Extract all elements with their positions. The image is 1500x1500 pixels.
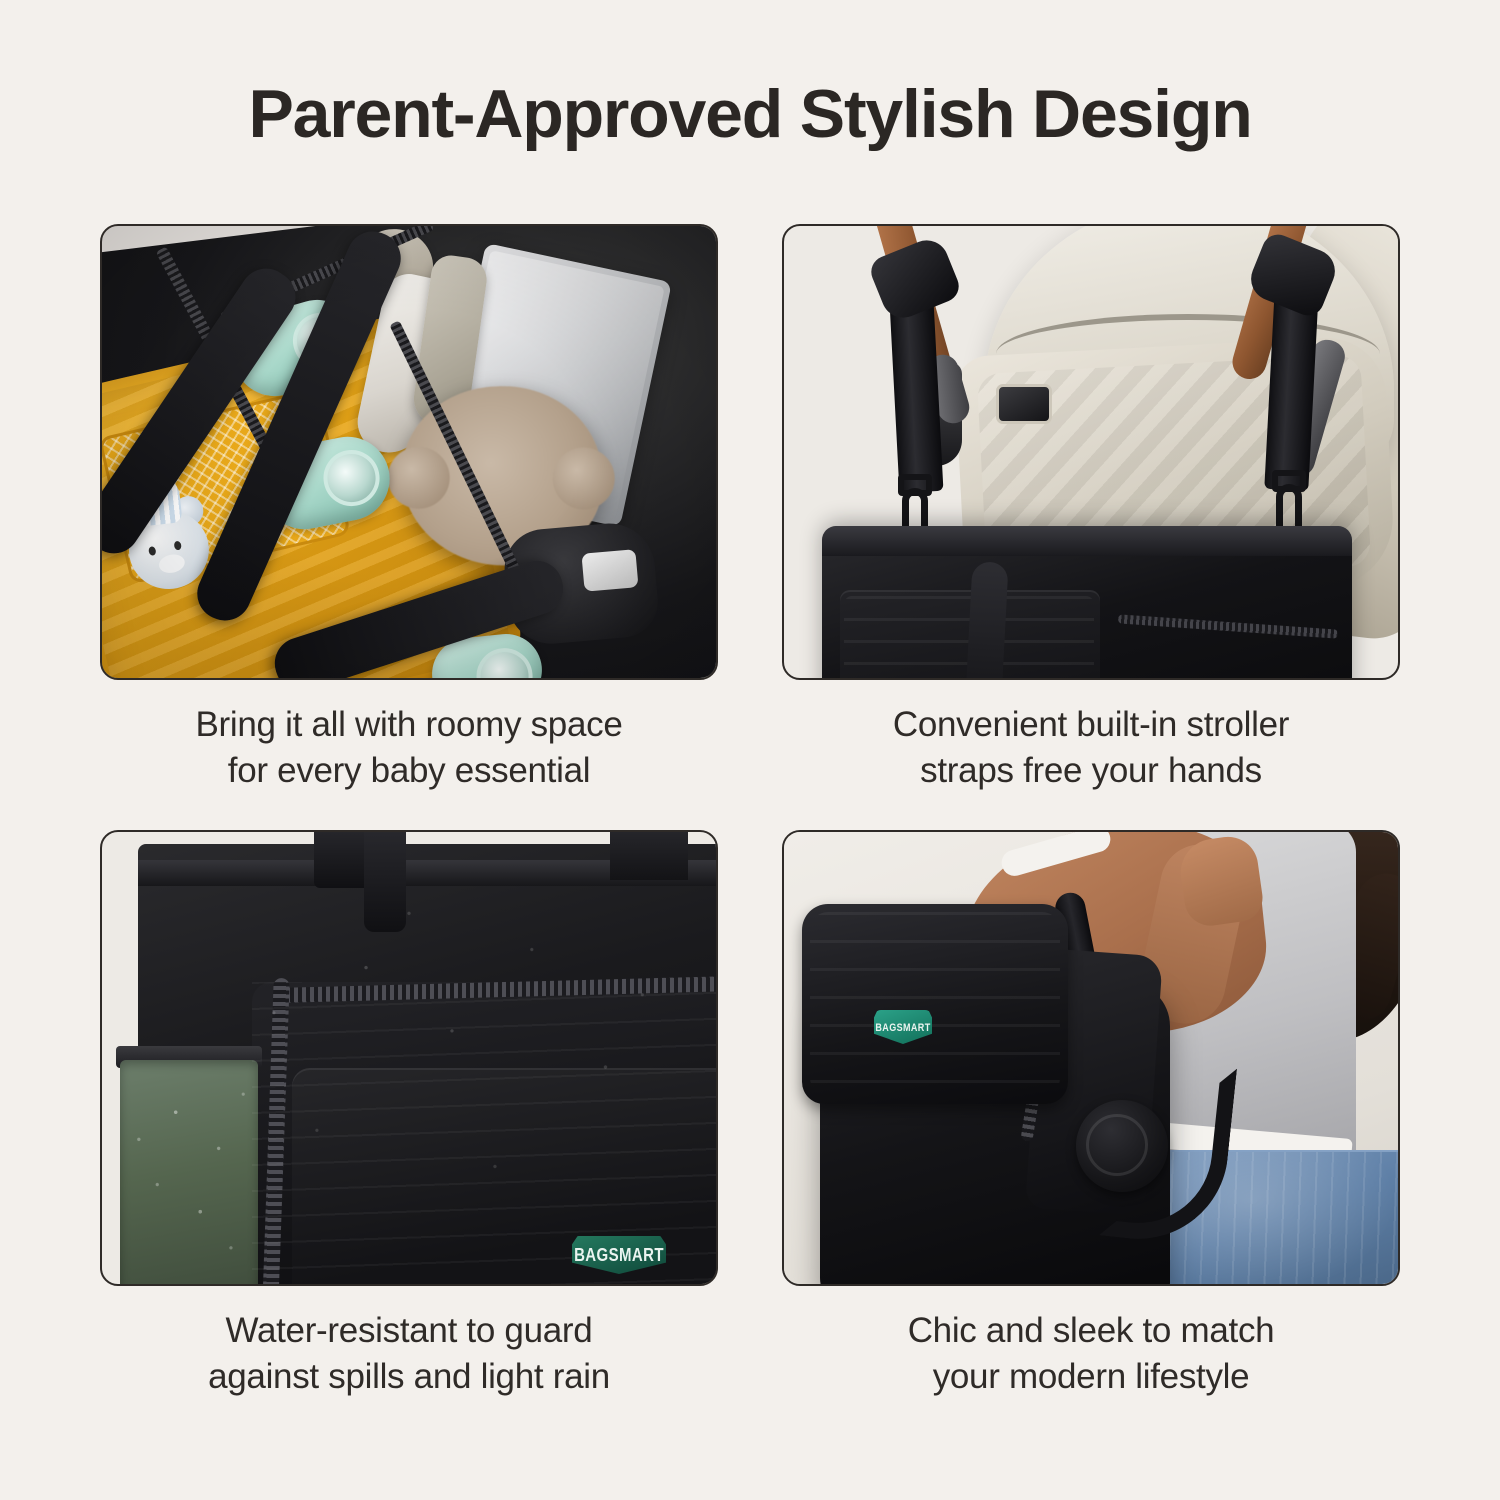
caption-line-1: Convenient built-in stroller: [893, 705, 1289, 744]
caption-line-1: Bring it all with roomy space: [195, 705, 622, 744]
caption-line-2: against spills and light rain: [208, 1357, 610, 1396]
strap-knot-left: [866, 234, 963, 324]
caption-line-1: Water-resistant to guard: [226, 1311, 593, 1350]
handle-loop-2: [364, 830, 406, 932]
caption-chic-sleek: Chic and sleek to match your modern life…: [782, 1286, 1400, 1436]
green-side-pocket: [120, 1060, 258, 1286]
caption-roomy-space: Bring it all with roomy space for every …: [100, 680, 718, 830]
caption-line-1: Chic and sleek to match: [908, 1311, 1275, 1350]
feature-image-water-resistant: BAGSMART: [100, 830, 718, 1286]
feature-grid: Bring it all with roomy space for every …: [100, 224, 1400, 1420]
caption-line-2: your modern lifestyle: [933, 1357, 1250, 1396]
bottle-cap-icon: [319, 445, 385, 511]
feature-image-stroller-straps: [782, 224, 1400, 680]
caption-line-2: straps free your hands: [920, 751, 1262, 790]
bag-zipper: [1118, 614, 1338, 638]
bag-top-band: [822, 526, 1352, 556]
feature-image-chic-sleek: BAGSMART: [782, 830, 1400, 1286]
page-title: Parent-Approved Stylish Design: [0, 80, 1500, 148]
caption-water-resistant: Water-resistant to guard against spills …: [100, 1286, 718, 1436]
bag-carry-handle: [963, 561, 1008, 680]
stroller-buckle-icon: [996, 384, 1052, 424]
pouch-button: [581, 549, 638, 592]
feature-image-roomy-space: [100, 224, 718, 680]
bottle-cap-icon: [474, 645, 536, 680]
handle-loop-3: [610, 830, 688, 880]
product-feature-page: Parent-Approved Stylish Design: [0, 0, 1500, 1500]
bagsmart-logo-text: BAGSMART: [875, 1021, 930, 1034]
diaper-bag-on-stroller: [822, 526, 1352, 680]
bag-front-flap: [802, 904, 1068, 1104]
caption-line-2: for every baby essential: [228, 751, 590, 790]
caption-stroller-straps: Convenient built-in stroller straps free…: [782, 680, 1400, 830]
bagsmart-logo-text: BAGSMART: [574, 1244, 664, 1265]
